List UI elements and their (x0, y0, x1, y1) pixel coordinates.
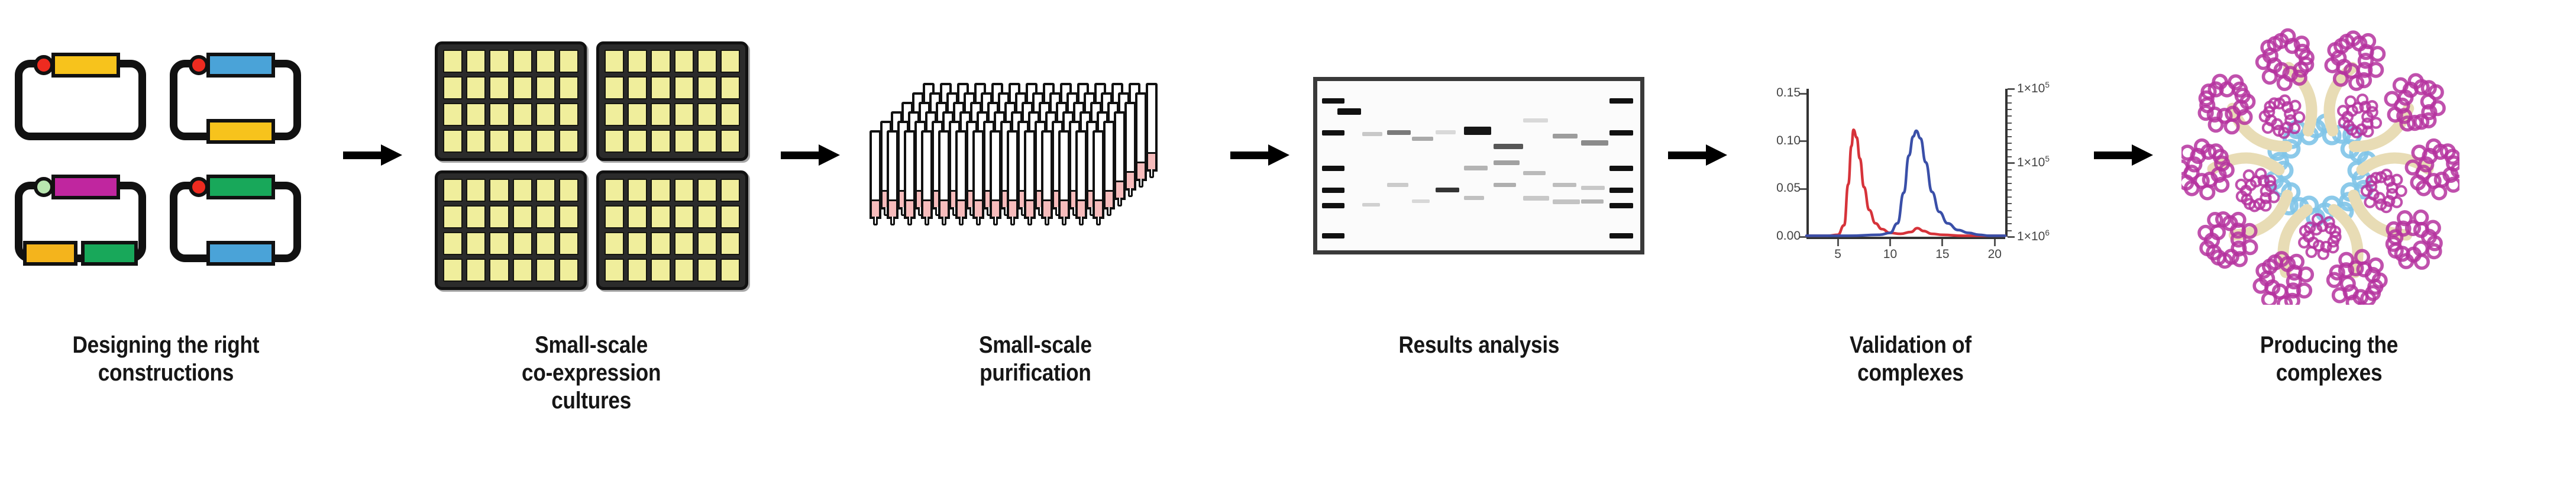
plate-well (628, 232, 647, 255)
step-caption-purification: Small-scale purification (979, 331, 1092, 387)
resin-bed (940, 199, 948, 217)
plate-well (720, 259, 740, 282)
outer-domain (2361, 170, 2406, 212)
outer-domain (2257, 30, 2312, 89)
plate-well (513, 205, 532, 228)
plate-well (720, 76, 740, 99)
resin-bed (1043, 199, 1051, 217)
plate-well (697, 205, 717, 228)
gel-band (1322, 188, 1344, 193)
column-tip (1128, 188, 1133, 197)
gel-band (1436, 130, 1456, 134)
gel-band (1322, 203, 1344, 208)
plate-well (605, 205, 624, 228)
plate-well (466, 205, 486, 228)
gel-band (1581, 186, 1605, 190)
workflow-step-validation: 0.000.050.100.1551015201×1051×1051×106 V… (1739, 0, 2082, 490)
purification-column (938, 130, 950, 219)
promoter-marker (34, 55, 54, 75)
resin-bed (872, 199, 879, 217)
plate-well (674, 76, 694, 99)
gel-band (1412, 199, 1430, 203)
plate-well (443, 179, 463, 202)
gel-band (1464, 166, 1488, 170)
plate-well (628, 50, 647, 73)
step-caption-cultures: Small-scale co-expression cultures (522, 331, 661, 415)
resin-bed (1009, 199, 1016, 217)
plate-well (513, 232, 532, 255)
plate-well (697, 232, 717, 255)
flow-arrow-1 (331, 0, 414, 490)
workflow-step-production: Producing the complexes (2165, 0, 2493, 490)
outer-domain (2299, 215, 2340, 259)
gel-band (1523, 171, 1546, 175)
gel-band (1436, 188, 1459, 192)
protein-complex-structure (2181, 27, 2459, 305)
plate-well (674, 50, 694, 73)
column-tip (1117, 198, 1122, 207)
gel-band (1609, 233, 1633, 238)
plate-well (697, 76, 717, 99)
column-tip (976, 217, 981, 225)
outer-domain (2326, 32, 2384, 89)
promoter-marker (189, 55, 209, 75)
plate-well (651, 130, 670, 153)
plate-well (697, 259, 717, 282)
plate-well (489, 76, 509, 99)
gel-band (1609, 98, 1633, 104)
resin-bed (1106, 190, 1113, 207)
promoter-marker (34, 177, 54, 197)
plate-well (559, 76, 578, 99)
step-caption-results: Results analysis (1398, 331, 1559, 359)
microplate (596, 41, 748, 161)
step-caption-design: Designing the right constructions (72, 331, 259, 387)
plate-well (697, 103, 717, 126)
plate-well (651, 205, 670, 228)
plate-well (720, 50, 740, 73)
purification-column (1007, 130, 1019, 219)
plate-well (697, 179, 717, 202)
column-tip (1149, 169, 1154, 178)
plate-well (466, 103, 486, 126)
plate-well (628, 130, 647, 153)
gel-band (1581, 140, 1608, 146)
plate-well (559, 259, 578, 282)
plate-well (536, 103, 555, 126)
plate-well (674, 259, 694, 282)
gel-band (1494, 144, 1523, 149)
gel-band (1553, 134, 1578, 138)
resin-bed (1137, 162, 1145, 179)
plate-well (605, 179, 624, 202)
column-tip (959, 217, 964, 225)
gel-band (1464, 127, 1491, 135)
plate-well (443, 76, 463, 99)
flow-arrow-5 (2082, 0, 2165, 490)
plate-well (489, 179, 509, 202)
microplate-icon (414, 0, 769, 331)
resin-bed (1061, 199, 1068, 217)
plate-well (674, 103, 694, 126)
plate-well (651, 232, 670, 255)
plate-well (443, 50, 463, 73)
gel-band (1387, 130, 1411, 135)
gel-band (1609, 166, 1633, 171)
plate-well (605, 50, 624, 73)
plate-well (720, 205, 740, 228)
gel-band (1322, 166, 1344, 171)
chromatogram-trace-blue-trace (1806, 131, 2005, 236)
plate-well (674, 232, 694, 255)
purification-column (870, 130, 881, 219)
resin-bed (1095, 199, 1102, 217)
plate-well (559, 130, 578, 153)
column-tip (993, 217, 998, 225)
plate-well (443, 232, 463, 255)
plasmid-constructs-icon (0, 0, 331, 331)
plate-well (559, 50, 578, 73)
plate-well (674, 179, 694, 202)
resin-bed (992, 199, 999, 217)
protein-complex-icon (2165, 0, 2493, 331)
plate-well (489, 259, 509, 282)
purification-column (921, 130, 933, 219)
plate-well (536, 50, 555, 73)
plate-well (720, 232, 740, 255)
gel-band (1523, 118, 1548, 122)
workflow-step-purification: Small-scale purification (852, 0, 1218, 490)
column-tip (1010, 217, 1015, 225)
purification-column (1075, 130, 1087, 219)
plate-well (651, 179, 670, 202)
plate-well (651, 103, 670, 126)
plate-well (559, 179, 578, 202)
gel-electrophoresis-icon (1301, 0, 1656, 331)
plate-well (513, 103, 532, 126)
gene-segment (206, 241, 275, 266)
purification-columns-icon (852, 0, 1218, 331)
column-tip (925, 217, 929, 225)
gene-segment (206, 119, 275, 144)
microplate (435, 170, 587, 290)
gene-segment (81, 241, 138, 266)
outer-domain (2181, 140, 2233, 199)
purification-column (904, 130, 916, 219)
plate-well (628, 205, 647, 228)
plate-well (489, 50, 509, 73)
plate-well (443, 130, 463, 153)
plate-well (605, 130, 624, 153)
plate-well (605, 232, 624, 255)
resin-bed (1026, 199, 1033, 217)
plate-well (466, 179, 486, 202)
resin-bed (975, 199, 982, 217)
plate-well (489, 232, 509, 255)
plate-well (720, 179, 740, 202)
resin-bed (923, 199, 930, 217)
gel-band (1322, 130, 1344, 136)
plate-well (605, 76, 624, 99)
plate-well (466, 76, 486, 99)
gel-band (1337, 108, 1361, 115)
column-tip (1045, 217, 1049, 225)
gel-band (1581, 199, 1604, 204)
gel-band (1494, 160, 1520, 165)
plate-well (536, 179, 555, 202)
purification-column (1146, 83, 1158, 172)
gene-segment (206, 53, 275, 78)
purification-column (1041, 130, 1053, 219)
plate-well (697, 50, 717, 73)
gene-segment (51, 53, 120, 78)
purification-column (1114, 111, 1126, 200)
plate-well (536, 130, 555, 153)
purification-column (1135, 92, 1147, 181)
plate-well (697, 130, 717, 153)
column-tip (1096, 217, 1101, 225)
column-tip (1062, 217, 1066, 225)
plate-well (466, 130, 486, 153)
resin-bed (889, 199, 896, 217)
flow-arrow-2 (769, 0, 852, 490)
plate-well (628, 103, 647, 126)
plate-well (674, 130, 694, 153)
resin-bed (958, 199, 965, 217)
resin-bed (1127, 171, 1134, 188)
purification-column (1103, 121, 1115, 209)
purification-column (887, 130, 898, 219)
workflow-step-results: Results analysis (1301, 0, 1656, 490)
plate-well (536, 205, 555, 228)
step-caption-production: Producing the complexes (2260, 331, 2398, 387)
plate-well (466, 232, 486, 255)
gel-band (1387, 183, 1408, 187)
gel-band (1322, 98, 1344, 104)
purification-column (1024, 130, 1036, 219)
step-caption-validation: Validation of complexes (1850, 331, 1971, 387)
chromatogram-traces (1745, 53, 2076, 278)
gel-band (1494, 183, 1516, 187)
gel-band (1362, 203, 1380, 207)
chromatogram-icon: 0.000.050.100.1551015201×1051×1051×106 (1739, 0, 2082, 331)
purification-column (1093, 130, 1104, 219)
gene-segment (23, 241, 77, 266)
purification-column (972, 130, 984, 219)
gel-band (1322, 233, 1344, 238)
outer-domain (2387, 211, 2441, 268)
outer-domain (2254, 253, 2312, 305)
outer-domain (2386, 75, 2444, 130)
plate-well (651, 50, 670, 73)
gel-band (1609, 203, 1633, 208)
plate-well (536, 259, 555, 282)
plate-well (536, 76, 555, 99)
plate-well (720, 103, 740, 126)
outer-domain (2199, 213, 2256, 267)
resin-bed (1116, 180, 1123, 198)
plate-well (513, 130, 532, 153)
column-tip (942, 217, 946, 225)
purification-column (1124, 102, 1136, 191)
gel-band (1523, 196, 1549, 201)
workflow-diagram: Designing the right constructions Small-… (0, 0, 2576, 490)
purification-column (955, 130, 967, 219)
gene-segment (51, 175, 120, 199)
column-tip (1079, 217, 1084, 225)
column-tip (907, 217, 912, 225)
column-row (870, 130, 1104, 219)
promoter-marker (189, 177, 209, 197)
microplate (596, 170, 748, 290)
plate-well (628, 76, 647, 99)
plate-well (559, 205, 578, 228)
plate-well (466, 50, 486, 73)
plate-well (513, 179, 532, 202)
outer-domain (2236, 169, 2278, 211)
column-tip (1107, 207, 1111, 216)
plate-well (651, 76, 670, 99)
gel-band (1553, 199, 1580, 204)
outer-domain (2260, 96, 2303, 138)
gel-band (1609, 188, 1633, 193)
plate-well (605, 103, 624, 126)
plate-well (513, 50, 532, 73)
flow-arrow-4 (1656, 0, 1739, 490)
plate-well (466, 259, 486, 282)
plate-well (674, 205, 694, 228)
gel-band (1362, 132, 1382, 136)
purification-column (1058, 130, 1070, 219)
plate-well (605, 259, 624, 282)
plate-well (628, 179, 647, 202)
plate-well (513, 76, 532, 99)
gel-band (1464, 196, 1484, 200)
column-tip (1139, 179, 1143, 188)
plate-well (489, 205, 509, 228)
outer-domain (2199, 75, 2254, 133)
column-tip (890, 217, 895, 225)
plate-well (651, 259, 670, 282)
workflow-step-design: Designing the right constructions (0, 0, 331, 490)
plate-well (443, 103, 463, 126)
plate-well (536, 232, 555, 255)
gene-segment (206, 175, 275, 199)
plate-well (443, 259, 463, 282)
gel-band (1412, 137, 1433, 141)
plate-well (559, 232, 578, 255)
flow-arrow-3 (1218, 0, 1301, 490)
column-tip (1027, 217, 1032, 225)
plate-well (489, 130, 509, 153)
plate-well (443, 205, 463, 228)
plate-well (720, 130, 740, 153)
resin-bed (1078, 199, 1085, 217)
purification-column (990, 130, 1001, 219)
microplate (435, 41, 587, 161)
column-tip (873, 217, 878, 225)
plate-well (489, 103, 509, 126)
workflow-step-cultures: Small-scale co-expression cultures (414, 0, 769, 490)
plate-well (513, 259, 532, 282)
resin-bed (906, 199, 913, 217)
gel-band (1553, 183, 1576, 187)
resin-bed (1148, 152, 1155, 169)
plate-well (628, 259, 647, 282)
gel-band (1609, 130, 1633, 136)
plate-well (559, 103, 578, 126)
